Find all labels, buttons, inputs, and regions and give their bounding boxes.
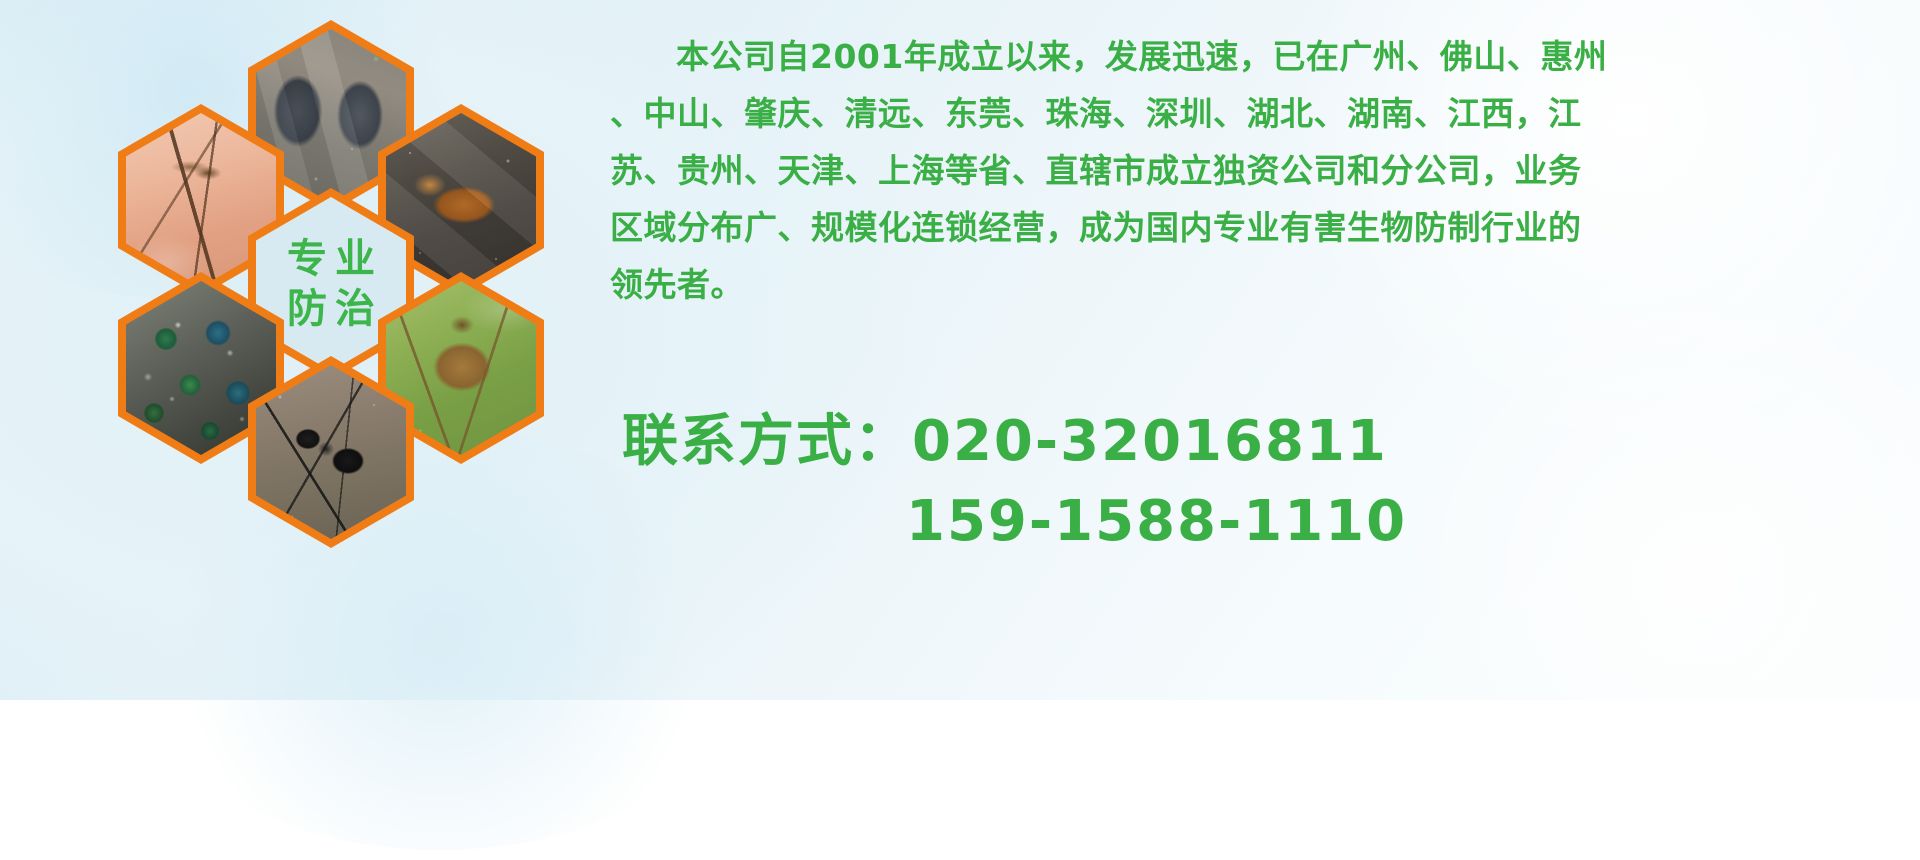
honeycomb-image-collage: 专业 防治 bbox=[96, 8, 596, 568]
company-intro: 本公司自2001年成立以来，发展迅速，已在广州、佛山、惠州 、中山、肇庆、清远、… bbox=[610, 28, 1902, 313]
contact-phone-landline[interactable]: 联系方式：020-32016811 bbox=[622, 402, 1912, 482]
intro-line-5: 领先者。 bbox=[610, 256, 1902, 313]
logo-line-2: 防治 bbox=[279, 284, 383, 334]
company-intro-paragraph: 本公司自2001年成立以来，发展迅速，已在广州、佛山、惠州 、中山、肇庆、清远、… bbox=[610, 28, 1902, 313]
promo-banner: 专业 防治 本公司自2001年成立以来，发展迅速，已在广州、佛山、惠州 、中山、… bbox=[0, 0, 1920, 700]
intro-line-3: 苏、贵州、天津、上海等省、直辖市成立独资公司和分公司，业务 bbox=[610, 142, 1902, 199]
intro-line-4: 区域分布广、规模化连锁经营，成为国内专业有害生物防制行业的 bbox=[610, 199, 1902, 256]
intro-line-2: 、中山、肇庆、清远、东莞、珠海、深圳、湖北、湖南、江西，江 bbox=[610, 85, 1902, 142]
contact-block: 联系方式：020-32016811 159-1588-1110 bbox=[622, 402, 1912, 562]
ant-photo bbox=[256, 365, 406, 539]
logo-line-1: 专业 bbox=[279, 234, 383, 284]
background-glow-bottom-right bbox=[1320, 300, 1920, 860]
intro-line-1: 本公司自2001年成立以来，发展迅速，已在广州、佛山、惠州 bbox=[610, 28, 1902, 85]
contact-phone-mobile[interactable]: 159-1588-1110 bbox=[622, 482, 1912, 562]
